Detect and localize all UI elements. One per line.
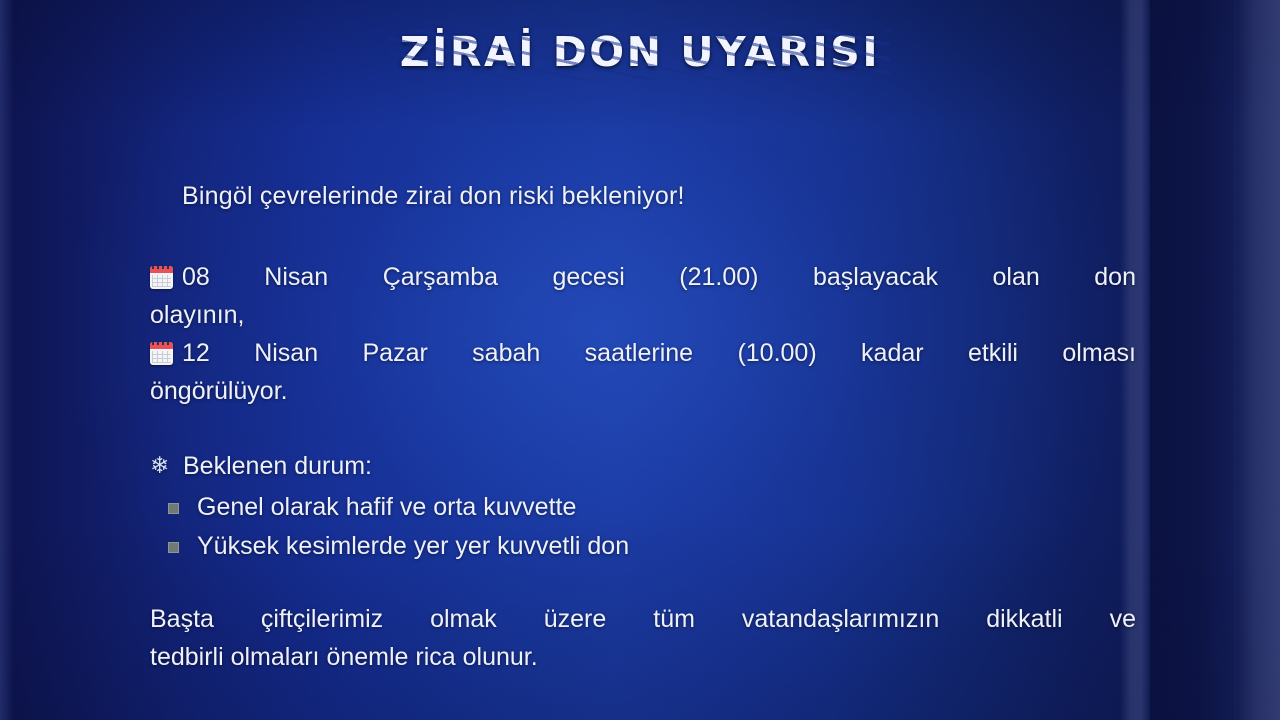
date-end-text: 12 Nisan Pazar sabah saatlerine (10.00) … bbox=[182, 339, 1136, 367]
calendar-icon bbox=[150, 342, 173, 365]
date-start-text: 08 Nisan Çarşamba gecesi (21.00) başlaya… bbox=[182, 263, 1136, 291]
list-item: Yüksek kesimlerde yer yer kuvvetli don bbox=[150, 527, 1050, 566]
closing-line-second: tedbirli olmaları önemle rica olunur. bbox=[150, 638, 1136, 676]
date-line-second: olayının, bbox=[150, 296, 1136, 334]
list-item-label: Genel olarak hafif ve orta kuvvette bbox=[197, 493, 576, 521]
date-line-third: 12 Nisan Pazar sabah saatlerine (10.00) … bbox=[150, 334, 1136, 372]
zirai-don-warning-poster: ZİRAİ DON UYARISI Bingöl çevrelerinde zi… bbox=[0, 0, 1280, 720]
date-line-first: 08 Nisan Çarşamba gecesi (21.00) başlaya… bbox=[150, 258, 1136, 296]
calendar-rings bbox=[152, 342, 171, 345]
expected-conditions-heading: ❄ Beklenen durum: bbox=[150, 450, 1050, 482]
poster-content: ZİRAİ DON UYARISI Bingöl çevrelerinde zi… bbox=[0, 0, 1280, 720]
page-title: ZİRAİ DON UYARISI bbox=[0, 28, 1280, 76]
poster-subtitle: Bingöl çevrelerinde zirai don riski bekl… bbox=[182, 182, 1142, 211]
closing-advisory-block: Başta çiftçilerimiz olmak üzere tüm vata… bbox=[150, 600, 1136, 676]
list-item-label: Yüksek kesimlerde yer yer kuvvetli don bbox=[197, 532, 629, 560]
expected-conditions-label: Beklenen durum: bbox=[183, 450, 372, 482]
closing-line-first: Başta çiftçilerimiz olmak üzere tüm vata… bbox=[150, 600, 1136, 638]
calendar-rings bbox=[152, 266, 171, 269]
square-bullet-icon bbox=[168, 542, 179, 553]
list-item: Genel olarak hafif ve orta kuvvette bbox=[150, 488, 1050, 527]
calendar-icon bbox=[150, 266, 173, 289]
date-line-fourth: öngörülüyor. bbox=[150, 372, 1136, 410]
expected-conditions-section: ❄ Beklenen durum: Genel olarak hafif ve … bbox=[150, 450, 1050, 566]
expected-conditions-list: Genel olarak hafif ve orta kuvvette Yüks… bbox=[150, 488, 1050, 566]
snowflake-icon: ❄ bbox=[150, 455, 176, 478]
date-details-block: 08 Nisan Çarşamba gecesi (21.00) başlaya… bbox=[150, 258, 1136, 410]
square-bullet-icon bbox=[168, 503, 179, 514]
